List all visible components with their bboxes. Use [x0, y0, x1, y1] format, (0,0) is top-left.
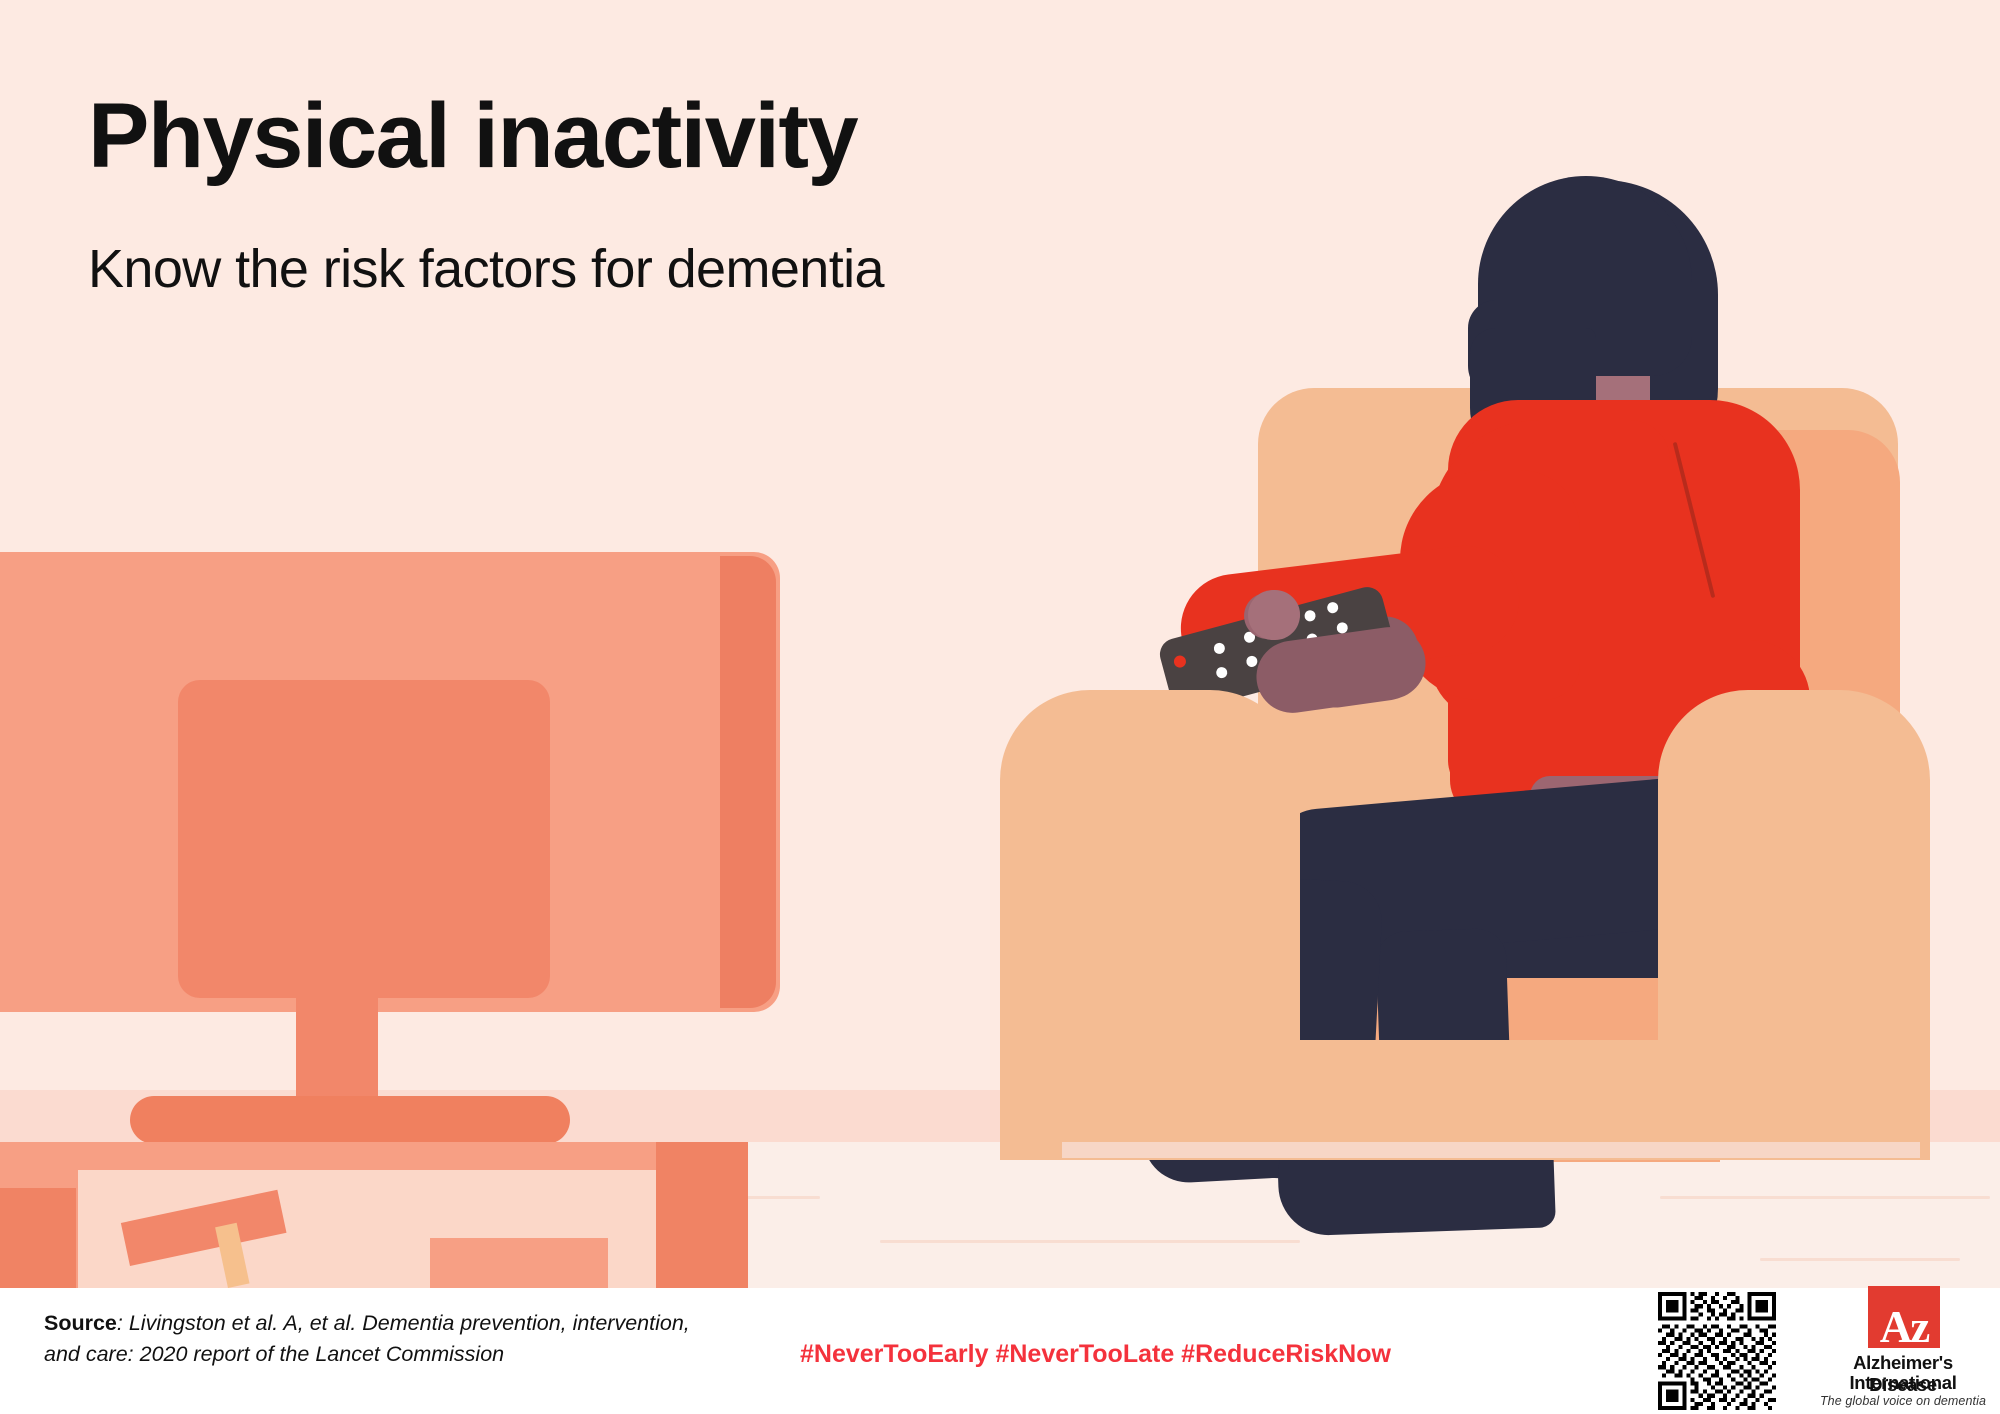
adi-logo-az-text: Az: [1870, 1304, 1938, 1352]
floor-line-2: [880, 1240, 1300, 1243]
page-title: Physical inactivity: [88, 88, 857, 185]
television-edge-shadow: [720, 556, 776, 1008]
television-screen: [178, 680, 550, 998]
source-text: : Livingston et al. A, et al. Dementia p…: [44, 1311, 690, 1366]
qr-code[interactable]: [1658, 1292, 1776, 1410]
source-citation: Source: Livingston et al. A, et al. Deme…: [44, 1308, 704, 1369]
television-stand-neck: [296, 980, 378, 1108]
floor-line-3: [1660, 1196, 1990, 1199]
remote-power-button: [1173, 654, 1188, 669]
adi-logo-tagline: The global voice on dementia: [1818, 1394, 1988, 1408]
adi-logo-line2: International: [1818, 1372, 1988, 1394]
person-finger: [1248, 590, 1300, 640]
cabinet-side-right: [656, 1142, 748, 1288]
poster: Physical inactivity Know the risk factor…: [0, 0, 2000, 1414]
cabinet-side-left: [0, 1188, 76, 1288]
source-label: Source: [44, 1311, 117, 1335]
page-subtitle: Know the risk factors for dementia: [88, 238, 884, 300]
television-stand-foot: [130, 1096, 570, 1144]
floor-line-4: [1760, 1258, 1960, 1261]
campaign-hashtags: #NeverTooEarly #NeverTooLate #ReduceRisk…: [800, 1340, 1391, 1369]
adi-logo[interactable]: Az Alzheimer's Disease International The…: [1818, 1286, 1988, 1412]
illustration-scene: [0, 0, 2000, 1288]
armchair-base-shadow: [1062, 1142, 1920, 1158]
box-on-shelf: [430, 1238, 608, 1288]
